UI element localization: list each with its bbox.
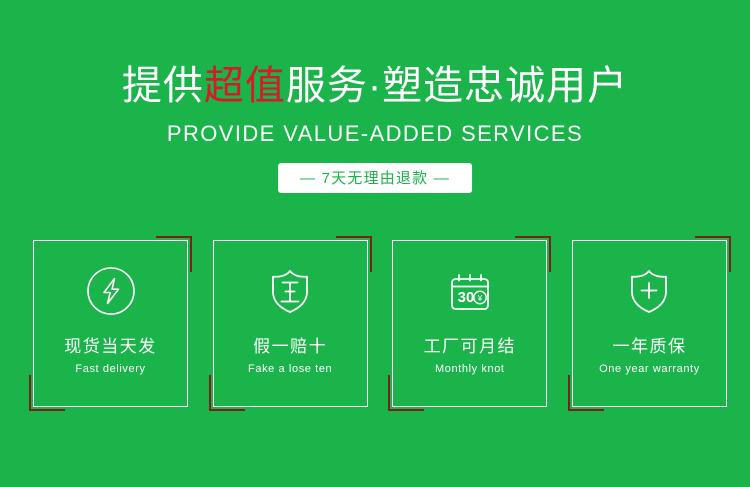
calendar-30-yuan-icon: 30 ¥ — [444, 265, 496, 317]
corner-accent-top-right — [336, 236, 372, 272]
lightning-bolt-circle-icon — [85, 265, 137, 317]
calendar-currency-symbol: ¥ — [477, 294, 483, 303]
corner-accent-top-right — [515, 236, 551, 272]
shield-plus-icon — [623, 265, 675, 317]
corner-accent-bottom-left — [209, 375, 245, 411]
headline-part-before: 提供 — [122, 64, 204, 108]
shield-zheng-icon — [264, 265, 316, 317]
feature-card-monthly-knot[interactable]: 30 ¥ 工厂可月结 Monthly knot — [392, 240, 547, 407]
feature-card-one-year-warranty[interactable]: 一年质保 One year warranty — [572, 240, 727, 407]
feature-card-title: 假一赔十 — [253, 337, 327, 357]
feature-card-subtitle: One year warranty — [599, 363, 700, 376]
headline-accent-text: 超值 — [204, 64, 286, 108]
feature-card-fast-delivery[interactable]: 现货当天发 Fast delivery — [33, 240, 188, 407]
promo-banner: 提供超值服务·塑造忠诚用户 PROVIDE VALUE-ADDED SERVIC… — [0, 0, 750, 487]
feature-card-subtitle: Fast delivery — [75, 363, 145, 376]
feature-card-subtitle: Monthly knot — [435, 363, 505, 376]
feature-card-title: 现货当天发 — [64, 337, 157, 357]
refund-policy-badge-label: — 7天无理由退款 — — [300, 171, 450, 186]
feature-card-fake-a-lose-ten[interactable]: 假一赔十 Fake a lose ten — [213, 240, 368, 407]
calendar-day-number: 30 — [457, 289, 474, 306]
corner-accent-top-right — [156, 236, 192, 272]
headline-part-after: 服务·塑造忠诚用户 — [286, 64, 628, 108]
corner-accent-bottom-left — [568, 375, 604, 411]
feature-card-title: 工厂可月结 — [424, 337, 517, 357]
feature-card-subtitle: Fake a lose ten — [248, 363, 332, 376]
corner-accent-bottom-left — [388, 375, 424, 411]
corner-accent-bottom-left — [29, 375, 65, 411]
refund-policy-badge: — 7天无理由退款 — — [278, 163, 472, 193]
page-title: 提供超值服务·塑造忠诚用户 — [0, 62, 750, 110]
page-subtitle: PROVIDE VALUE-ADDED SERVICES — [0, 120, 750, 148]
feature-card-title: 一年质保 — [612, 337, 686, 357]
feature-card-list: 现货当天发 Fast delivery 假一赔十 Fake a lose ten — [33, 240, 727, 407]
corner-accent-top-right — [695, 236, 731, 272]
